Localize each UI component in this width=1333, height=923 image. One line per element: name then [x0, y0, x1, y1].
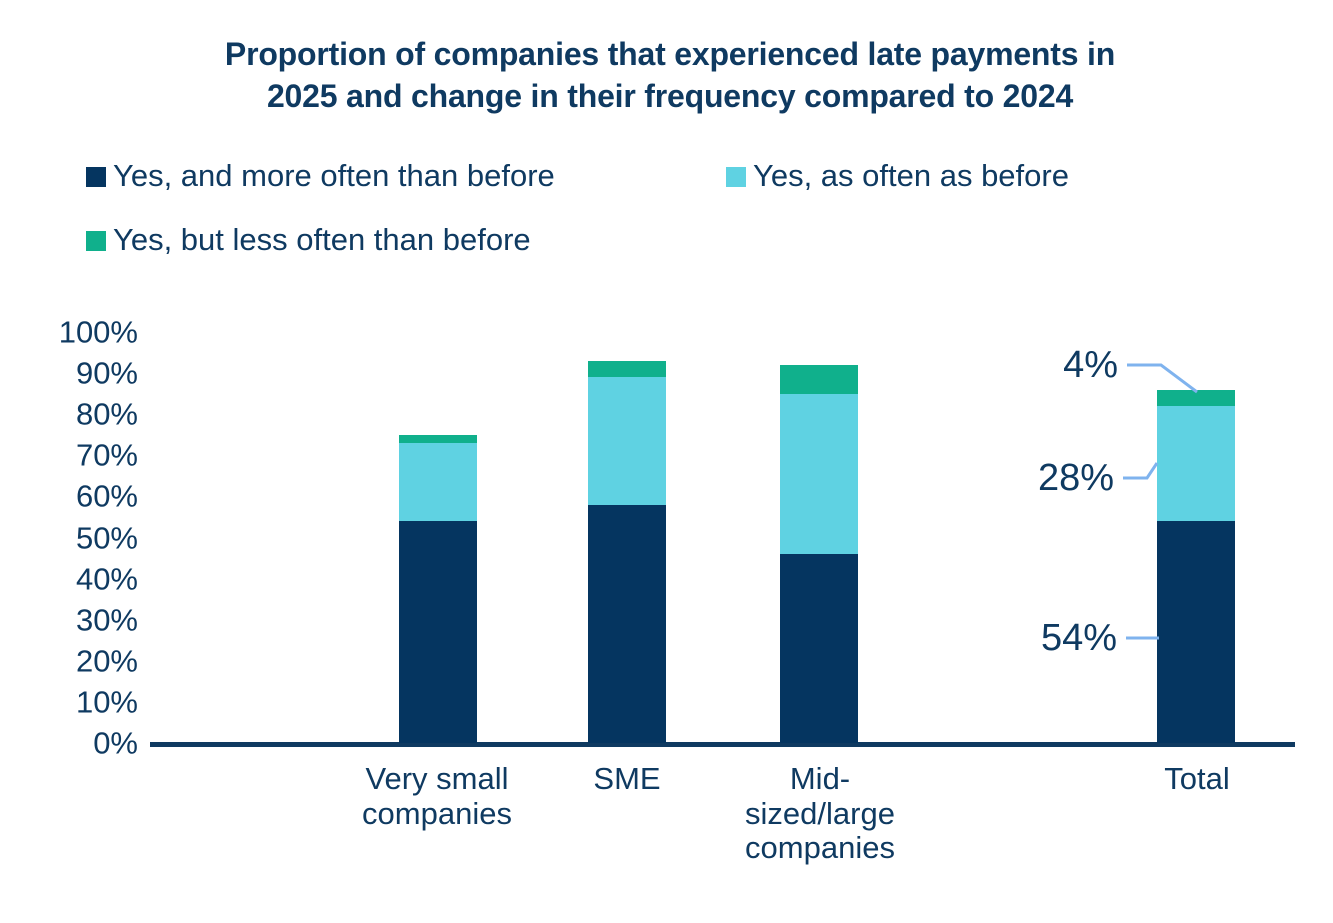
- x-axis-line: [150, 742, 1295, 747]
- x-axis-category-label: SME: [537, 762, 717, 797]
- bar-segment[interactable]: [588, 377, 666, 504]
- y-axis-tick: 20%: [18, 645, 138, 676]
- y-axis-tick: 40%: [18, 563, 138, 594]
- bar-segment[interactable]: [588, 361, 666, 377]
- y-axis-tick: 30%: [18, 604, 138, 635]
- bar-segment[interactable]: [780, 554, 858, 743]
- bar-segment[interactable]: [780, 365, 858, 394]
- x-axis-category-label: Very small companies: [337, 762, 537, 831]
- leader-line-28pct: [1123, 463, 1157, 478]
- bar-segment[interactable]: [1157, 406, 1235, 521]
- data-value-label: 4%: [1063, 346, 1118, 384]
- y-axis-tick: 80%: [18, 399, 138, 430]
- bar-column[interactable]: [780, 0, 858, 743]
- data-value-label: 54%: [1041, 619, 1117, 657]
- data-value-label: 28%: [1038, 459, 1114, 497]
- bar-segment[interactable]: [1157, 390, 1235, 406]
- y-axis-tick: 90%: [18, 358, 138, 389]
- x-axis-category-label: Mid- sized/large companies: [700, 762, 940, 866]
- x-axis-category-label: Total: [1077, 762, 1317, 797]
- y-axis-tick: 100%: [18, 317, 138, 348]
- bar-segment[interactable]: [588, 505, 666, 743]
- bar-column[interactable]: [588, 0, 666, 743]
- bar-column[interactable]: [399, 0, 477, 743]
- y-axis-tick: 50%: [18, 522, 138, 553]
- y-axis-tick: 0%: [18, 728, 138, 759]
- bar-column[interactable]: [1157, 0, 1235, 743]
- bar-segment[interactable]: [399, 521, 477, 743]
- bar-segment[interactable]: [399, 443, 477, 521]
- chart-container: Proportion of companies that experienced…: [0, 0, 1333, 923]
- y-axis-tick: 10%: [18, 686, 138, 717]
- bar-segment[interactable]: [780, 394, 858, 554]
- plot-area: 0%10%20%30%40%50%60%70%80%90%100% Very s…: [0, 0, 1333, 923]
- bar-segment[interactable]: [399, 435, 477, 443]
- y-axis-tick: 70%: [18, 440, 138, 471]
- bar-segment[interactable]: [1157, 521, 1235, 743]
- y-axis-tick: 60%: [18, 481, 138, 512]
